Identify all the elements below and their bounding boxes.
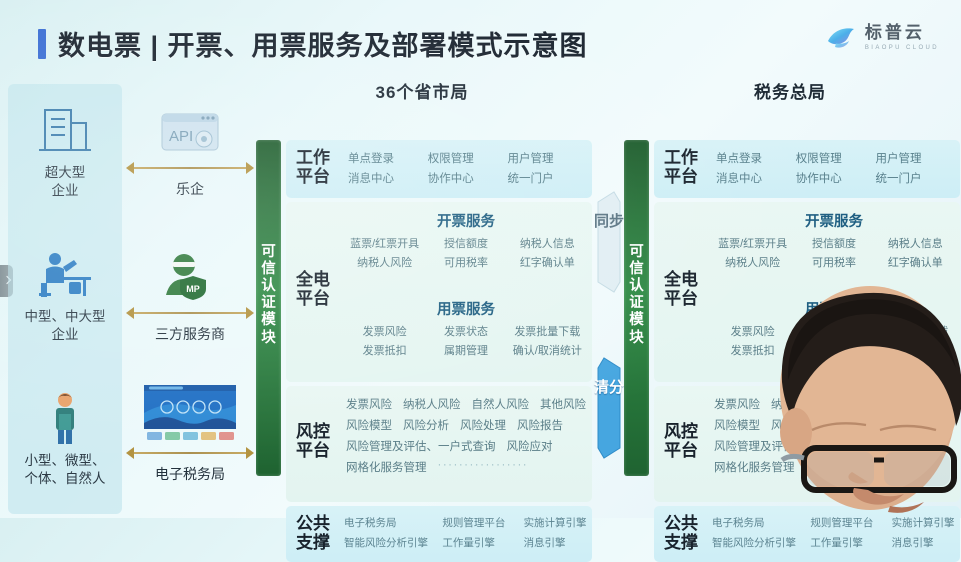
public-support-item[interactable]: 规则管理平台 xyxy=(442,515,523,530)
channel-column: API 乐企 MP xyxy=(126,84,254,514)
invoicing-service-block: 开票服务蓝票/红票开具授信额度纳税人信息纳税人风险可用税率红字确认单 xyxy=(712,210,956,273)
section-name: 全电平台 xyxy=(664,270,708,308)
cert-module-label: 可信认证模块 xyxy=(256,244,281,347)
service-row: 电子税务局规则管理平台实施计算引擎 xyxy=(344,515,590,530)
section-name: 全电平台 xyxy=(296,270,340,308)
brand-logo: 标普云 BIAOPU CLOUD xyxy=(826,24,939,51)
service-row: 单点登录权限管理用户管理 xyxy=(716,150,954,166)
risk-item[interactable]: 风险处理 xyxy=(828,417,874,433)
svg-text:MP: MP xyxy=(186,284,200,294)
service-row: 单点登录权限管理用户管理 xyxy=(348,150,586,166)
service-row: 发票风险发票状态发票批量下载 xyxy=(712,323,956,339)
work-platform-item[interactable]: 用户管理 xyxy=(875,150,954,166)
public-support-item[interactable]: 消息引擎 xyxy=(892,535,958,550)
usage-service-title: 用票服务 xyxy=(712,298,956,319)
panel-provincial: 36个省市局可信认证模块工作平台单点登录权限管理用户管理消息中心协作中心统一门户… xyxy=(252,78,592,518)
service-row: 智能风险分析引擎工作量引擎消息引擎 xyxy=(712,535,958,550)
risk-item[interactable]: 风险应对 xyxy=(507,438,553,454)
logo-chinese-name: 标普云 xyxy=(865,24,939,41)
invoicing-item[interactable]: 可用税率 xyxy=(425,254,506,270)
service-row: 蓝票/红票开具授信额度纳税人信息 xyxy=(344,235,588,251)
usage-item[interactable]: 确认/取消统计 xyxy=(875,342,956,358)
risk-item[interactable]: 网格化服务管理 xyxy=(714,459,795,475)
channel-label: 电子税务局 xyxy=(126,464,254,484)
public-support-item[interactable]: 实施计算引擎 xyxy=(524,515,590,530)
work-platform-item[interactable]: 统一门户 xyxy=(507,170,586,186)
person-standing-icon xyxy=(8,386,122,452)
service-row: 网格化服务管理················· xyxy=(714,459,956,475)
risk-item[interactable]: 风险报告 xyxy=(517,417,563,433)
panel-title: 税务总局 xyxy=(620,78,960,103)
invoicing-item[interactable]: 可用税率 xyxy=(793,254,874,270)
clearing-arrow: 清分 xyxy=(592,354,626,462)
invoicing-item[interactable]: 纳税人风险 xyxy=(712,254,793,270)
service-row: 发票风险纳税人风险自然人风险其他风险 xyxy=(346,396,588,412)
service-row: 纳税人风险可用税率红字确认单 xyxy=(344,254,588,270)
section-full-electric-platform: 全电平台开票服务蓝票/红票开具授信额度纳税人信息纳税人风险可用税率红字确认单用票… xyxy=(654,202,960,382)
usage-service-block: 用票服务发票风险发票状态发票批量下载发票抵扣属期管理确认/取消统计 xyxy=(712,298,956,361)
work-platform-item[interactable]: 权限管理 xyxy=(428,150,507,166)
risk-item[interactable]: 风险模型 xyxy=(714,417,760,433)
work-platform-item[interactable]: 单点登录 xyxy=(348,150,427,166)
trusted-certification-module: 可信认证模块 xyxy=(624,140,649,476)
section-name: 公共支撑 xyxy=(664,514,708,552)
invoicing-service-block: 开票服务蓝票/红票开具授信额度纳税人信息纳税人风险可用税率红字确认单 xyxy=(344,210,588,273)
service-row: 风险管理及评估、一户式查询风险应对 xyxy=(346,438,588,454)
work-platform-item[interactable]: 权限管理 xyxy=(796,150,875,166)
section-public-support: 公共支撑电子税务局规则管理平台实施计算引擎智能风险分析引擎工作量引擎消息引擎 xyxy=(654,506,960,562)
panel-body: 可信认证模块工作平台单点登录权限管理用户管理消息中心协作中心统一门户全电平台开票… xyxy=(252,110,592,524)
service-row: 网格化服务管理················· xyxy=(346,459,588,475)
section-name: 公共支撑 xyxy=(296,514,340,552)
customer-segment-label: 中型、中大型企业 xyxy=(8,308,122,343)
usage-item[interactable]: 发票抵扣 xyxy=(344,342,425,358)
usage-item[interactable]: 发票抵扣 xyxy=(712,342,793,358)
risk-item[interactable]: 纳税人风险 xyxy=(403,396,461,412)
invoicing-item[interactable]: 授信额度 xyxy=(793,235,874,251)
section-risk-control-platform: 风控平台发票风险纳税人风险自然人风险其他风险风险模型风险分析风险处理风险报告风险… xyxy=(286,386,592,502)
risk-item[interactable]: 自然人风险 xyxy=(472,396,530,412)
panel-national: 税务总局可信认证模块工作平台单点登录权限管理用户管理消息中心协作中心统一门户全电… xyxy=(620,78,960,518)
usage-item[interactable]: 确认/取消统计 xyxy=(507,342,588,358)
section-name: 工作平台 xyxy=(296,148,340,186)
slide-canvas: 数电票 | 开票、用票服务及部署模式示意图 标普云 BIAOPU CLOUD xyxy=(0,0,961,518)
work-platform-item[interactable]: 统一门户 xyxy=(875,170,954,186)
public-support-item[interactable]: 实施计算引擎 xyxy=(892,515,958,530)
public-support-item[interactable]: 工作量引擎 xyxy=(442,535,523,550)
usage-item[interactable]: 发票风险 xyxy=(344,323,425,339)
section-name: 工作平台 xyxy=(664,148,708,186)
service-row: 消息中心协作中心统一门户 xyxy=(716,170,954,186)
section-name: 风控平台 xyxy=(296,422,340,460)
trusted-certification-module: 可信认证模块 xyxy=(256,140,281,476)
usage-item[interactable]: 发票状态 xyxy=(425,323,506,339)
risk-item[interactable]: 风险报告 xyxy=(885,417,931,433)
bidirectional-arrow xyxy=(126,161,254,175)
ellipsis-dots: ················· xyxy=(806,459,897,475)
invoicing-item[interactable]: 纳税人信息 xyxy=(875,235,956,251)
risk-item[interactable]: 网格化服务管理 xyxy=(346,459,427,475)
risk-item[interactable]: 风险管理及评估、一户式查询 xyxy=(714,438,864,454)
sync-clearing-arrows: 同步 清分 xyxy=(592,78,626,518)
usage-service-title: 用票服务 xyxy=(344,298,588,319)
work-platform-item[interactable]: 单点登录 xyxy=(716,150,795,166)
work-platform-item[interactable]: 用户管理 xyxy=(507,150,586,166)
risk-item[interactable]: 其他风险 xyxy=(540,396,586,412)
usage-item[interactable]: 发票风险 xyxy=(712,323,793,339)
risk-item[interactable]: 风险管理及评估、一户式查询 xyxy=(346,438,496,454)
risk-items: 发票风险纳税人风险自然人风险其他风险风险模型风险分析风险处理风险报告风险管理及评… xyxy=(714,396,956,480)
usage-service-block: 用票服务发票风险发票状态发票批量下载发票抵扣属期管理确认/取消统计 xyxy=(344,298,588,361)
risk-item[interactable]: 风险应对 xyxy=(875,438,921,454)
public-support-item[interactable]: 电子税务局 xyxy=(344,515,442,530)
panel-body: 可信认证模块工作平台单点登录权限管理用户管理消息中心协作中心统一门户全电平台开票… xyxy=(620,110,960,524)
channel-label: 三方服务商 xyxy=(126,324,254,344)
risk-item[interactable]: 风险分析 xyxy=(403,417,449,433)
invoicing-item[interactable]: 蓝票/红票开具 xyxy=(712,235,793,251)
ellipsis-dots: ················· xyxy=(438,459,529,475)
risk-item[interactable]: 纳税人风险 xyxy=(771,396,829,412)
invoicing-service-title: 开票服务 xyxy=(344,210,588,231)
section-full-electric-platform: 全电平台开票服务蓝票/红票开具授信额度纳税人信息纳税人风险可用税率红字确认单用票… xyxy=(286,202,592,382)
usage-item[interactable]: 发票批量下载 xyxy=(507,323,588,339)
page-title: 数电票 | 开票、用票服务及部署模式示意图 xyxy=(38,24,588,63)
service-row: 发票风险纳税人风险自然人风险其他风险 xyxy=(714,396,956,412)
usage-item[interactable]: 发票状态 xyxy=(793,323,874,339)
customer-segments-column: 超大型企业 中型、中大型企业 xyxy=(8,84,122,514)
section-work-platform: 工作平台单点登录权限管理用户管理消息中心协作中心统一门户 xyxy=(286,140,592,198)
office-worker-icon xyxy=(8,242,122,308)
service-row: 风险模型风险分析风险处理风险报告 xyxy=(346,417,588,433)
svg-text:API: API xyxy=(169,128,193,145)
risk-item[interactable]: 自然人风险 xyxy=(840,396,898,412)
customer-segment-label: 小型、微型、个体、自然人 xyxy=(8,452,122,487)
service-row: 发票抵扣属期管理确认/取消统计 xyxy=(344,342,588,358)
slide-header: 数电票 | 开票、用票服务及部署模式示意图 标普云 BIAOPU CLOUD xyxy=(0,0,961,78)
logo-english-name: BIAOPU CLOUD xyxy=(865,45,939,51)
invoicing-item[interactable]: 蓝票/红票开具 xyxy=(344,235,425,251)
channel-label: 乐企 xyxy=(126,179,254,199)
channel-item: 电子税务局 xyxy=(126,379,254,484)
usage-item[interactable]: 属期管理 xyxy=(425,342,506,358)
bird-logo-icon xyxy=(826,25,856,51)
public-support-items: 电子税务局规则管理平台实施计算引擎智能风险分析引擎工作量引擎消息引擎 xyxy=(344,515,590,555)
risk-item[interactable]: 发票风险 xyxy=(346,396,392,412)
work-platform-item[interactable]: 消息中心 xyxy=(348,170,427,186)
public-support-item[interactable]: 工作量引擎 xyxy=(810,535,891,550)
title-accent-bar xyxy=(38,29,46,59)
section-name: 风控平台 xyxy=(664,422,708,460)
customer-segment-item: 小型、微型、个体、自然人 xyxy=(8,386,122,487)
service-row: 发票风险发票状态发票批量下载 xyxy=(344,323,588,339)
customer-segment-item: 中型、中大型企业 xyxy=(8,242,122,343)
usage-item[interactable]: 属期管理 xyxy=(793,342,874,358)
service-row: 风险管理及评估、一户式查询风险应对 xyxy=(714,438,956,454)
customer-segment-label: 超大型企业 xyxy=(8,164,122,199)
invoicing-item[interactable]: 纳税人风险 xyxy=(344,254,425,270)
work-platform-services: 单点登录权限管理用户管理消息中心协作中心统一门户 xyxy=(716,150,954,190)
risk-item[interactable]: 风险模型 xyxy=(346,417,392,433)
risk-items: 发票风险纳税人风险自然人风险其他风险风险模型风险分析风险处理风险报告风险管理及评… xyxy=(346,396,588,480)
public-support-item[interactable]: 智能风险分析引擎 xyxy=(712,535,810,550)
channel-item: API 乐企 xyxy=(126,94,254,199)
sync-arrow: 同步 xyxy=(592,188,626,296)
invoicing-service-title: 开票服务 xyxy=(712,210,956,231)
page-title-text: 数电票 | 开票、用票服务及部署模式示意图 xyxy=(58,24,588,63)
etax-website-icon xyxy=(126,379,254,441)
channel-item: MP 三方服务商 xyxy=(126,239,254,344)
invoicing-item[interactable]: 红字确认单 xyxy=(507,254,588,270)
service-row: 蓝票/红票开具授信额度纳税人信息 xyxy=(712,235,956,251)
customer-segment-item: 超大型企业 xyxy=(8,98,122,199)
service-row: 消息中心协作中心统一门户 xyxy=(348,170,586,186)
service-row: 发票抵扣属期管理确认/取消统计 xyxy=(712,342,956,358)
work-platform-item[interactable]: 协作中心 xyxy=(796,170,875,186)
usage-item[interactable]: 发票批量下载 xyxy=(875,323,956,339)
office-building-icon xyxy=(8,98,122,164)
work-platform-item[interactable]: 协作中心 xyxy=(428,170,507,186)
service-row: 风险模型风险分析风险处理风险报告 xyxy=(714,417,956,433)
service-provider-shield-icon: MP xyxy=(126,239,254,301)
service-row: 智能风险分析引擎工作量引擎消息引擎 xyxy=(344,535,590,550)
section-risk-control-platform: 风控平台发票风险纳税人风险自然人风险其他风险风险模型风险分析风险处理风险报告风险… xyxy=(654,386,960,502)
section-public-support: 公共支撑电子税务局规则管理平台实施计算引擎智能风险分析引擎工作量引擎消息引擎 xyxy=(286,506,592,562)
invoicing-item[interactable]: 纳税人信息 xyxy=(507,235,588,251)
invoicing-item[interactable]: 授信额度 xyxy=(425,235,506,251)
clearing-label: 清分 xyxy=(592,380,626,397)
panel-title: 36个省市局 xyxy=(252,78,592,103)
cert-module-label: 可信认证模块 xyxy=(624,244,649,347)
work-platform-item[interactable]: 消息中心 xyxy=(716,170,795,186)
risk-item[interactable]: 其他风险 xyxy=(908,396,954,412)
risk-item[interactable]: 风险处理 xyxy=(460,417,506,433)
public-support-item[interactable]: 电子税务局 xyxy=(712,515,810,530)
sync-label: 同步 xyxy=(592,214,626,231)
section-work-platform: 工作平台单点登录权限管理用户管理消息中心协作中心统一门户 xyxy=(654,140,960,198)
public-support-item[interactable]: 智能风险分析引擎 xyxy=(344,535,442,550)
service-row: 纳税人风险可用税率红字确认单 xyxy=(712,254,956,270)
bidirectional-arrow xyxy=(126,306,254,320)
service-row: 电子税务局规则管理平台实施计算引擎 xyxy=(712,515,958,530)
public-support-item[interactable]: 消息引擎 xyxy=(524,535,590,550)
public-support-item[interactable]: 规则管理平台 xyxy=(810,515,891,530)
bidirectional-arrow xyxy=(126,446,254,460)
api-window-icon: API xyxy=(126,94,254,156)
risk-item[interactable]: 发票风险 xyxy=(714,396,760,412)
invoicing-item[interactable]: 红字确认单 xyxy=(875,254,956,270)
risk-item[interactable]: 风险分析 xyxy=(771,417,817,433)
public-support-items: 电子税务局规则管理平台实施计算引擎智能风险分析引擎工作量引擎消息引擎 xyxy=(712,515,958,555)
work-platform-services: 单点登录权限管理用户管理消息中心协作中心统一门户 xyxy=(348,150,586,190)
